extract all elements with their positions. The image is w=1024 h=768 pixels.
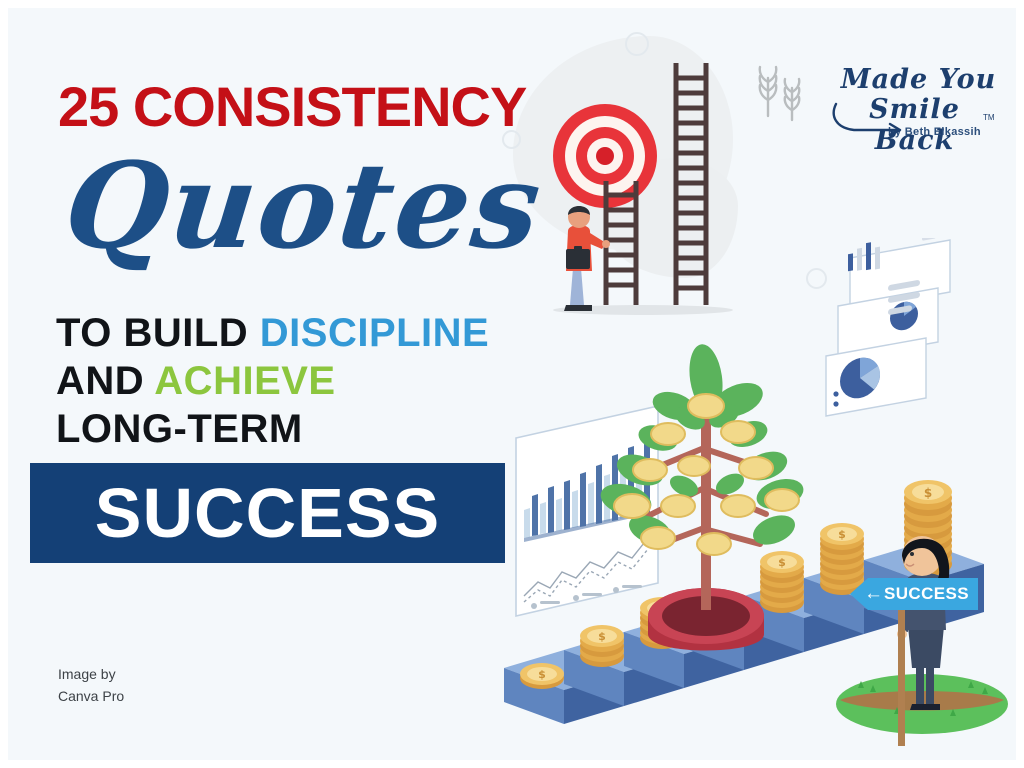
image-credit-line-1: Image by [58,663,124,685]
signpost-pole [898,608,905,746]
headline-line-2: TO BUILD DISCIPLINE [56,311,489,356]
svg-text:$: $ [924,486,932,500]
wheat-sprig-icon [752,64,808,127]
headline-accent-discipline: DISCIPLINE [260,311,489,355]
svg-text:$: $ [538,668,546,681]
headline-accent-achieve: ACHIEVE [154,359,335,403]
logo-line-1: Made You [836,64,1001,95]
coin-stack-2: $ [580,625,624,667]
headline-script-word: Quotes [59,136,549,275]
headline-count: 25 CONSISTENCY [58,74,526,139]
sign-arrow-icon: ← [864,583,883,605]
headline-line-3-prefix: AND [56,359,154,403]
success-banner-label: SUCCESS [30,463,505,563]
svg-text:$: $ [598,630,606,643]
success-banner: SUCCESS [30,463,505,563]
headline-line-2-prefix: TO BUILD [56,311,260,355]
logo-swoosh-arrow-icon [828,102,918,141]
headline-line-4: LONG-TERM [56,407,303,452]
poster-root: $ $ [0,0,1024,768]
coin-stack-5: $ [760,551,804,613]
svg-text:$: $ [838,528,846,541]
brand-logo[interactable]: Made You Smile Back TM by Beth Elkassih [818,64,1003,150]
svg-text:$: $ [778,556,786,569]
image-credit: Image by Canva Pro [58,663,124,707]
coin-stack-1: $ [520,663,564,689]
logo-trademark: TM [983,113,995,122]
dashboard-cards [826,238,950,416]
poster-canvas: $ $ [8,8,1016,760]
headline-line-3: AND ACHIEVE [56,359,336,404]
sign-label: SUCCESS [884,584,969,604]
isometric-success-scene: $ $ [498,238,1016,743]
image-credit-line-2: Canva Pro [58,685,124,707]
